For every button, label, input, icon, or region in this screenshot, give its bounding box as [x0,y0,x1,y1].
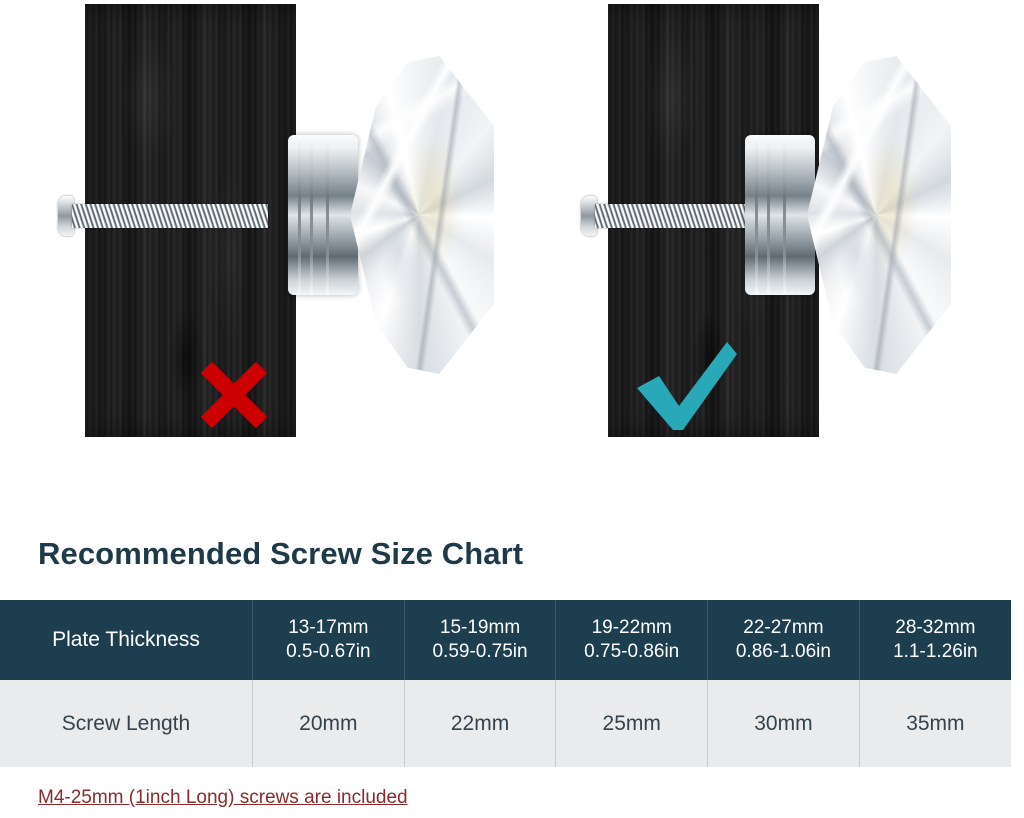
page-title: Recommended Screw Size Chart [38,536,523,572]
chrome-knob-base [288,135,358,295]
table-row-plate-thickness: Plate Thickness 13-17mm 0.5-0.67in 15-19… [0,600,1011,680]
thickness-mm-2: 15-19mm [405,616,556,640]
screw-shaft [72,204,268,228]
knob-ring [298,135,301,295]
cross-mark-icon [195,356,273,434]
cell-screw-length-1: 20mm [253,680,405,767]
table-header: Plate Thickness 13-17mm 0.5-0.67in 15-19… [0,600,1011,680]
product-illustration [0,0,1024,500]
thickness-mm-3: 19-22mm [556,616,707,640]
crystal-diamond-knob [350,56,494,374]
knob-ring [767,135,770,295]
crystal-facets [350,56,494,374]
cell-screw-length-2: 22mm [404,680,556,767]
header-cell-thickness-1: 13-17mm 0.5-0.67in [253,600,405,680]
screw-size-chart-section: Recommended Screw Size Chart Plate Thick… [0,500,1024,818]
recommended-screw-size-table: Plate Thickness 13-17mm 0.5-0.67in 15-19… [0,600,1011,767]
thickness-in-3: 0.75-0.86in [556,640,707,664]
table-row-screw-length: Screw Length 20mm 22mm 25mm 30mm 35mm [0,680,1011,767]
thickness-in-2: 0.59-0.75in [405,640,556,664]
crystal-diamond-knob [807,56,951,374]
thickness-in-4: 0.86-1.06in [708,640,859,664]
knob-ring [310,135,313,295]
chrome-knob-base [745,135,815,295]
knob-ring [326,135,329,295]
cell-screw-length-3: 25mm [556,680,708,767]
header-cell-thickness-4: 22-27mm 0.86-1.06in [708,600,860,680]
cell-screw-length-5: 35mm [859,680,1011,767]
thickness-mm-4: 22-27mm [708,616,859,640]
table-body: Screw Length 20mm 22mm 25mm 30mm 35mm [0,680,1011,767]
row-header-screw-length: Screw Length [0,680,253,767]
knob-ring [783,135,786,295]
knob-ring [755,135,758,295]
header-cell-thickness-5: 28-32mm 1.1-1.26in [859,600,1011,680]
thickness-in-1: 0.5-0.67in [253,640,404,664]
cell-screw-length-4: 30mm [708,680,860,767]
header-cell-thickness-2: 15-19mm 0.59-0.75in [404,600,556,680]
thickness-in-5: 1.1-1.26in [860,640,1011,664]
included-screws-note: M4-25mm (1inch Long) screws are included [38,787,408,809]
check-mark-icon [635,340,739,432]
header-cell-thickness-3: 19-22mm 0.75-0.86in [556,600,708,680]
row-header-plate-thickness: Plate Thickness [0,600,253,680]
crystal-facets [807,56,951,374]
thickness-mm-1: 13-17mm [253,616,404,640]
thickness-mm-5: 28-32mm [860,616,1011,640]
